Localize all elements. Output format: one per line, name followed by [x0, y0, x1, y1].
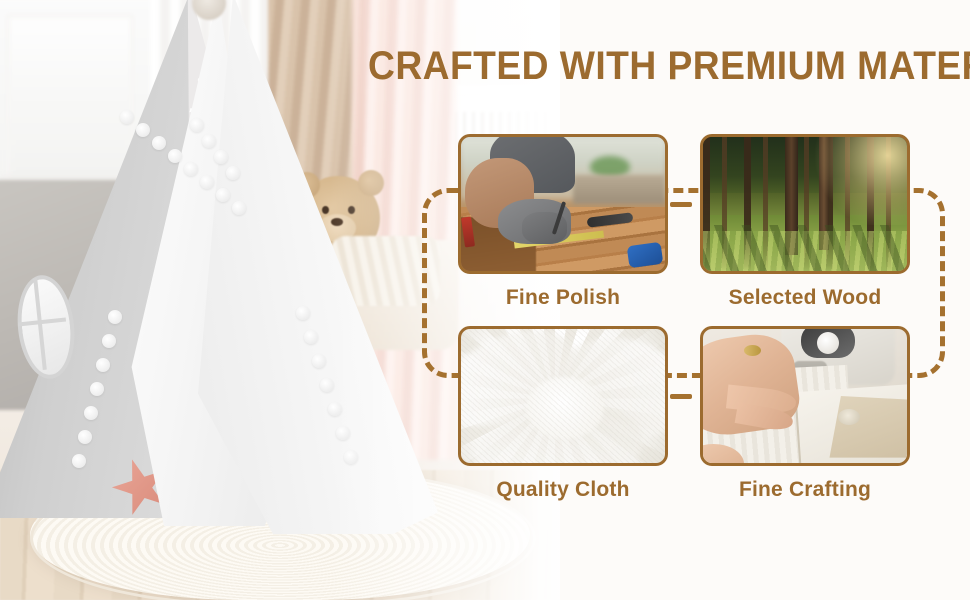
pom-pom [232, 201, 246, 215]
pom-pom [202, 134, 216, 148]
pom-pom [296, 306, 310, 320]
pom-pom [108, 310, 122, 324]
pom-pom [190, 118, 204, 132]
pom-pom [168, 149, 182, 163]
pom-pom [136, 123, 150, 137]
pom-pom [226, 166, 240, 180]
tree-shadows [703, 225, 907, 271]
pom-pom [84, 406, 98, 420]
pattern-piece [829, 396, 910, 458]
pom-pom [78, 430, 92, 444]
feature-caption-selected-wood: Selected Wood [700, 286, 910, 310]
pom-pom [184, 162, 198, 176]
sunlit-pine-forest-photo [700, 134, 910, 274]
connector-dash-top [670, 202, 692, 207]
white-fabric-swirl-photo [458, 326, 668, 466]
feature-card-selected-wood[interactable]: Selected Wood [700, 134, 910, 274]
sewing-machine-hands-photo [700, 326, 910, 466]
feature-card-fine-crafting[interactable]: Fine Crafting [700, 326, 910, 466]
pom-pom [214, 150, 228, 164]
carpenter-marking-wood-photo [458, 134, 668, 274]
pom-pom [120, 110, 134, 124]
sunlight-glow [805, 134, 910, 225]
pom-pom [216, 188, 230, 202]
stone-wall-blur [573, 175, 665, 204]
feature-caption-quality-cloth: Quality Cloth [458, 478, 668, 502]
finger-ring [744, 345, 761, 356]
feature-caption-fine-crafting: Fine Crafting [700, 478, 910, 502]
feature-card-fine-polish[interactable]: Fine Polish [458, 134, 668, 274]
pom-pom [200, 175, 214, 189]
fabric-weave-texture [461, 329, 665, 463]
pom-pom [152, 136, 166, 150]
feature-photo-grid: Fine Polish Selected Wood [458, 134, 916, 470]
connector-dash-bottom [670, 394, 692, 399]
pom-pom [72, 454, 86, 468]
pom-pom [312, 354, 326, 368]
pom-pom [304, 330, 318, 344]
page-title: CRAFTED WITH PREMIUM MATERIALS [368, 46, 917, 86]
pom-pom [90, 382, 104, 396]
product-feature-banner: CRAFTED WITH PREMIUM MATERIALS [0, 0, 970, 600]
thread-spool-cap [817, 332, 839, 354]
pom-pom [96, 358, 110, 372]
feature-caption-fine-polish: Fine Polish [458, 286, 668, 310]
feature-card-quality-cloth[interactable]: Quality Cloth [458, 326, 668, 466]
pom-pom [102, 334, 116, 348]
